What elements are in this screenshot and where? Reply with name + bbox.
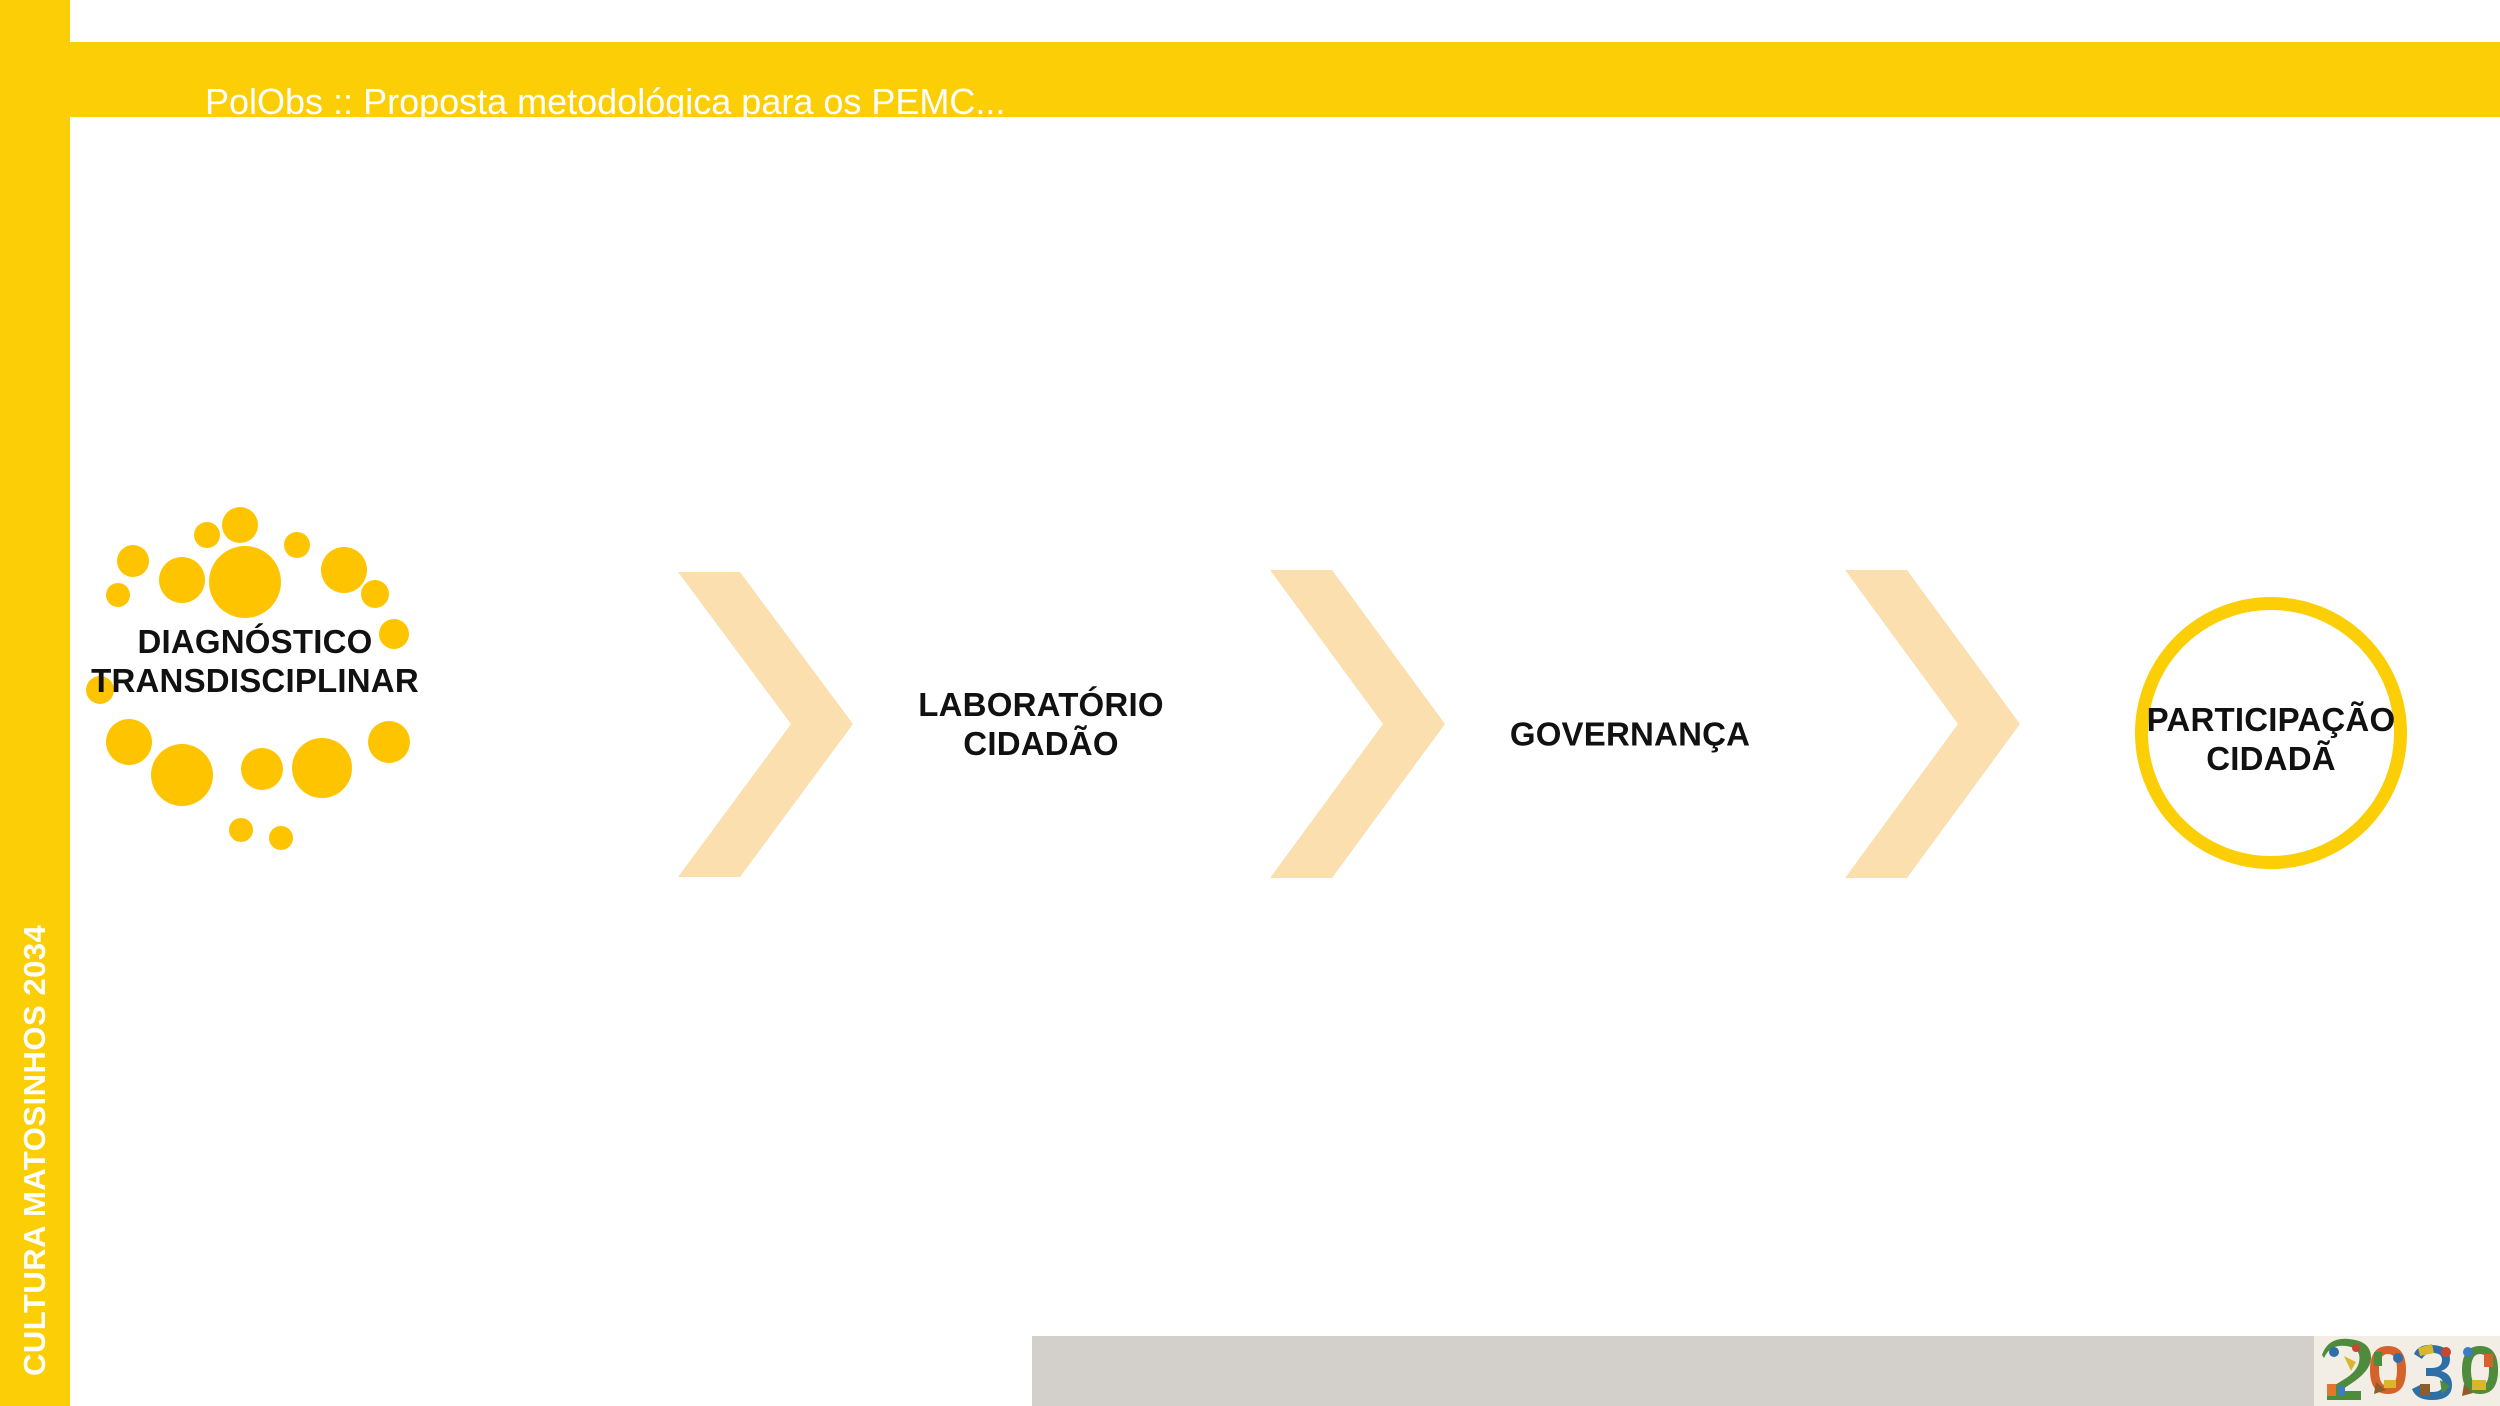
- cluster-dot: [321, 547, 367, 593]
- cluster-dot: [159, 557, 205, 603]
- process-flow-diagram: DIAGNÓSTICO TRANSDISCIPLINAR LABORATÓRIO…: [0, 0, 2500, 1406]
- flow-step-label-governanca: GOVERNANÇA: [1510, 716, 1750, 755]
- cluster-dot: [209, 546, 281, 618]
- cluster-dot: [222, 507, 258, 543]
- illustrated-2030-logo: [2314, 1336, 2500, 1406]
- flow-step-label-laboratorio: LABORATÓRIO CIDADÃO: [918, 686, 1163, 764]
- chevron-right-icon: [678, 572, 853, 877]
- footer-gray-bar: [1032, 1336, 2500, 1406]
- chevron-right-icon: [1270, 570, 1445, 878]
- cluster-dot: [241, 748, 283, 790]
- cluster-dot: [106, 719, 152, 765]
- cluster-dot: [194, 522, 220, 548]
- flow-step-label-participacao: PARTICIPAÇÃO CIDADÃ: [2147, 701, 2396, 779]
- cluster-dot: [284, 532, 310, 558]
- chevron-right-icon: [1845, 570, 2020, 878]
- cluster-dot: [151, 744, 213, 806]
- cluster-dot: [117, 545, 149, 577]
- slide-canvas: CULTURA MATOSINHOS 2034 PolObs :: Propos…: [0, 0, 2500, 1406]
- flow-step-label-diagnostico: DIAGNÓSTICO TRANSDISCIPLINAR: [91, 623, 419, 701]
- cluster-dot: [106, 583, 130, 607]
- cluster-dot: [229, 818, 253, 842]
- cluster-dot: [361, 580, 389, 608]
- cluster-dot: [269, 826, 293, 850]
- cluster-dot: [368, 721, 410, 763]
- cluster-dot: [292, 738, 352, 798]
